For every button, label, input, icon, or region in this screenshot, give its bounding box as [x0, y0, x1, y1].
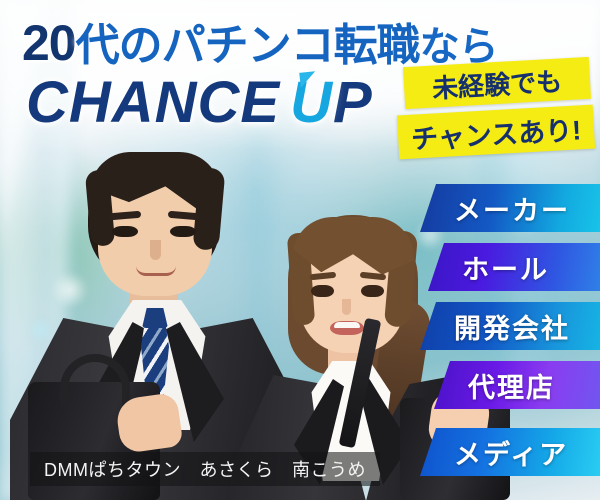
woman-eye-right	[361, 285, 384, 297]
advertisement-banner[interactable]: 20代のパチンコ転職なら CHANCEUP 未経験でも チャンスあり! メーカー…	[0, 0, 600, 500]
logo-up-group: UP	[290, 74, 373, 132]
headline: 20代のパチンコ転職なら	[22, 18, 498, 68]
up-arrow-icon	[299, 71, 316, 88]
logo-p-letter: P	[333, 70, 373, 135]
category-button-agency[interactable]: 代理店	[434, 361, 600, 409]
chance-up-logo: CHANCEUP	[26, 74, 373, 132]
woman-eye-left	[311, 285, 334, 297]
photo-credit-caption: DMMぱちタウン あさくら 南こうめ	[30, 452, 380, 486]
man-mouth	[136, 266, 176, 276]
headline-middle: 代のパチンコ転職	[76, 21, 420, 70]
man-nose	[150, 240, 161, 260]
woman-nose	[342, 299, 351, 315]
category-button-development-company[interactable]: 開発会社	[420, 302, 600, 350]
man-eye-right	[170, 226, 196, 237]
category-button-media[interactable]: メディア	[420, 428, 600, 476]
headline-number: 20	[22, 15, 76, 71]
category-button-hall[interactable]: ホール	[428, 243, 600, 291]
woman-teeth	[334, 322, 360, 328]
man-eye-left	[112, 226, 138, 237]
category-button-maker[interactable]: メーカー	[420, 184, 600, 232]
logo-chance-text: CHANCE	[26, 70, 280, 135]
